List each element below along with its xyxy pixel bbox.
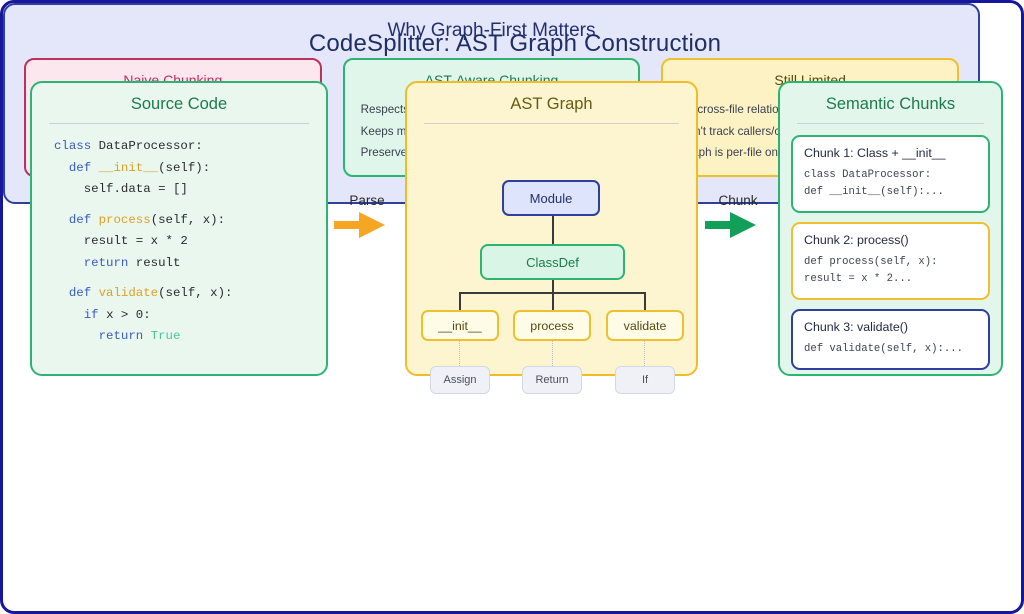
code-token: return [54,256,136,270]
chunk-card[interactable]: Chunk 2: process()def process(self, x):r… [791,222,990,300]
code-line: def process(self, x): [54,210,326,232]
edge-bus-init [459,292,461,310]
page-title: CodeSplitter: AST Graph Construction [3,30,1024,58]
edge-init-assign [459,341,460,366]
chunk-code-line: class DataProcessor: [804,167,977,184]
chunk-arrow-icon [705,212,771,238]
code-token: result = x * 2 [54,234,188,248]
chunk-code-line: result = x * 2... [804,271,977,288]
code-token: DataProcessor: [99,139,203,153]
edge-module-classdef [552,216,554,244]
code-token: def [54,286,99,300]
code-line: result = x * 2 [54,231,326,253]
parse-arrow-label: Parse [334,193,400,208]
code-token: def [54,161,99,175]
chunk-card[interactable]: Chunk 1: Class + __init__class DataProce… [791,135,990,213]
code-token: result [136,256,181,270]
code-blank-line [54,274,326,283]
code-token: process [99,213,151,227]
chunk-card[interactable]: Chunk 3: validate()def validate(self, x)… [791,309,990,370]
ast-graph-panel-title: AST Graph [407,83,696,114]
code-token: (self, x): [151,213,225,227]
ast-node-assign[interactable]: Assign [430,366,490,394]
code-token: return [54,329,151,343]
code-token: __init__ [99,161,159,175]
code-token: self.data = [] [54,182,188,196]
code-token: (self, x): [158,286,232,300]
edge-bus-validate [644,292,646,310]
edge-validate-if [644,341,645,366]
chunk-code-line: def validate(self, x):... [804,341,977,358]
edge-process-return [552,341,553,366]
ast-node-validate[interactable]: validate [606,310,684,341]
code-token: validate [99,286,159,300]
diagram-canvas: CodeSplitter: AST Graph Construction Sou… [0,0,1024,614]
semantic-chunks-panel-title: Semantic Chunks [780,83,1001,114]
ast-node-if[interactable]: If [615,366,675,394]
chunk-arrow-label: Chunk [705,193,771,208]
code-line: class DataProcessor: [54,136,326,158]
code-line: return True [54,326,326,348]
code-token: def [54,213,99,227]
ast-tree: Module ClassDef __init__ process validat… [407,124,696,349]
ast-node-module[interactable]: Module [502,180,600,216]
chunk-heading: Chunk 3: validate() [804,320,977,334]
ast-node-return[interactable]: Return [522,366,582,394]
code-line: return result [54,253,326,275]
source-code-panel-title: Source Code [32,83,326,114]
code-token: if [54,308,106,322]
parse-arrow-group: Parse [334,193,400,238]
ast-graph-panel: AST Graph Module ClassDef __init__ proce… [405,81,698,376]
code-line: def __init__(self): [54,158,326,180]
source-code-block: class DataProcessor: def __init__(self):… [54,136,326,348]
chunk-code-line: def __init__(self):... [804,184,977,201]
code-token: True [151,329,181,343]
code-token: x > 0: [106,308,151,322]
code-line: if x > 0: [54,305,326,327]
chunk-arrow-group: Chunk [705,193,771,238]
code-token: (self): [158,161,210,175]
panel-divider [49,123,309,124]
code-blank-line [54,201,326,210]
code-line: self.data = [] [54,179,326,201]
semantic-chunks-panel: Semantic Chunks Chunk 1: Class + __init_… [778,81,1003,376]
parse-arrow-icon [334,212,400,238]
source-code-panel: Source Code class DataProcessor: def __i… [30,81,328,376]
code-line: def validate(self, x): [54,283,326,305]
chunk-heading: Chunk 2: process() [804,233,977,247]
panel-divider [797,123,984,124]
chunk-list: Chunk 1: Class + __init__class DataProce… [791,135,990,370]
ast-node-init[interactable]: __init__ [421,310,499,341]
ast-node-classdef[interactable]: ClassDef [480,244,625,280]
ast-node-process[interactable]: process [513,310,591,341]
chunk-code-line: def process(self, x): [804,254,977,271]
edge-bus-process [552,292,554,310]
chunk-heading: Chunk 1: Class + __init__ [804,146,977,160]
code-token: class [54,139,99,153]
